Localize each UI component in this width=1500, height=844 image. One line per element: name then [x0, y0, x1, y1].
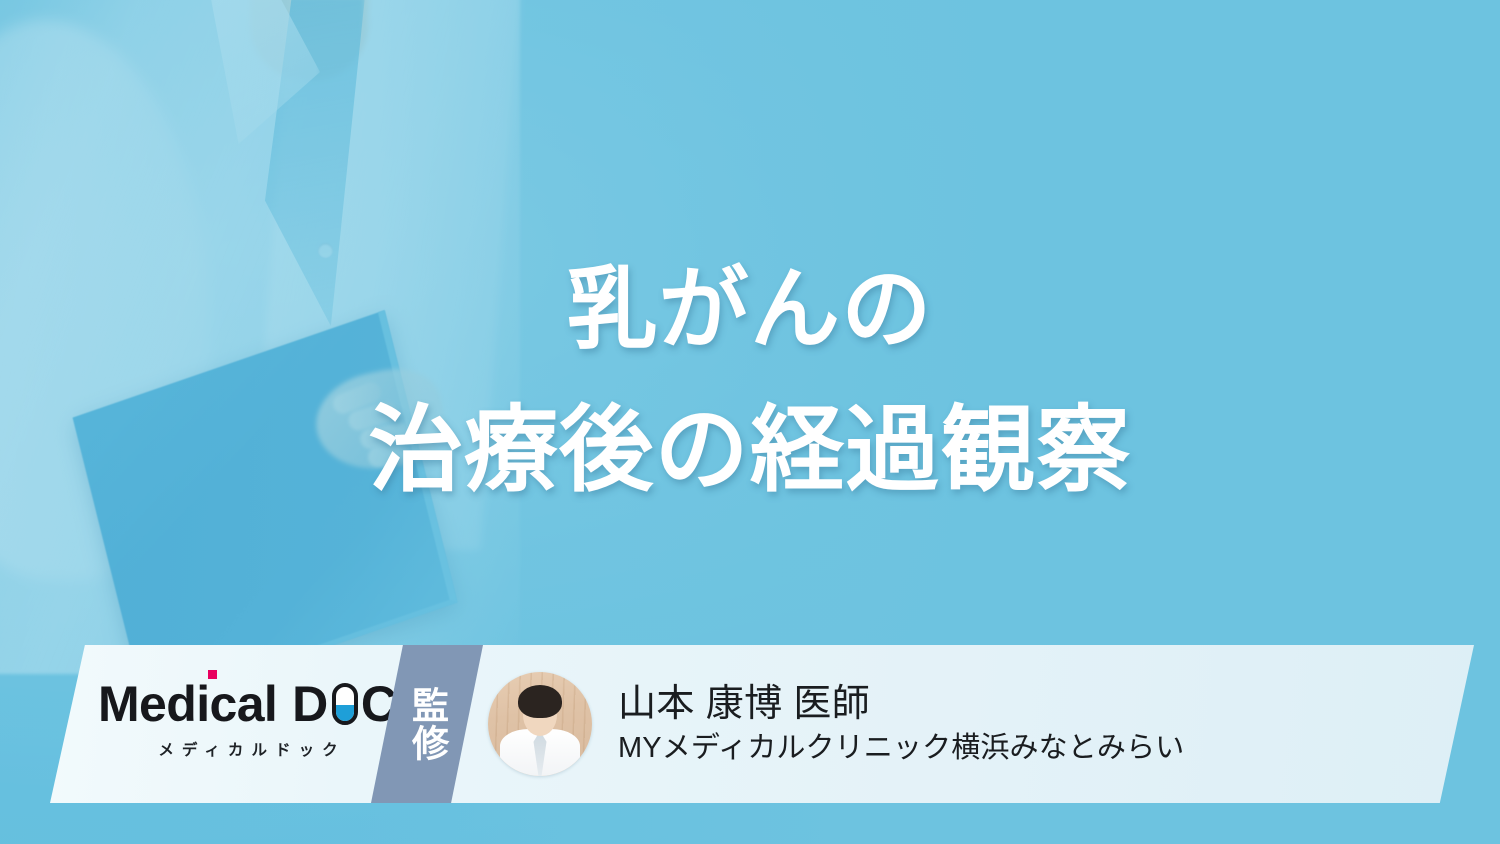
brand-word-medical: Medical	[98, 679, 277, 729]
avatar-hair	[518, 685, 562, 718]
credit-banner: Medical D C メディカルドック 監修 山本 康博 医師	[50, 645, 1474, 803]
doctor-avatar	[488, 672, 592, 776]
doctor-name: 山本 康博 医師	[618, 682, 1184, 726]
brand-wordmark: Medical D C	[98, 679, 398, 729]
supervision-badge: 監修	[371, 645, 483, 803]
doctor-clinic: MYメディカルクリニック横浜みなとみらい	[618, 731, 1184, 766]
brand-word-d: D	[292, 679, 329, 729]
brand-pill-o-icon	[332, 683, 358, 725]
doctor-credit: 山本 康博 医師 MYメディカルクリニック横浜みなとみらい	[488, 645, 1184, 803]
slide-canvas: 乳がんの 治療後の経過観察 Medical D C メディカルドック 監修	[0, 0, 1500, 844]
doctor-text-block: 山本 康博 医師 MYメディカルクリニック横浜みなとみらい	[618, 682, 1184, 766]
brand-kana-subtitle: メディカルドック	[98, 738, 398, 760]
avatar-coat	[500, 729, 580, 776]
supervision-badge-label: 監修	[406, 686, 447, 762]
brand-logo[interactable]: Medical D C メディカルドック	[98, 679, 398, 760]
brand-accent-dot	[208, 670, 217, 679]
